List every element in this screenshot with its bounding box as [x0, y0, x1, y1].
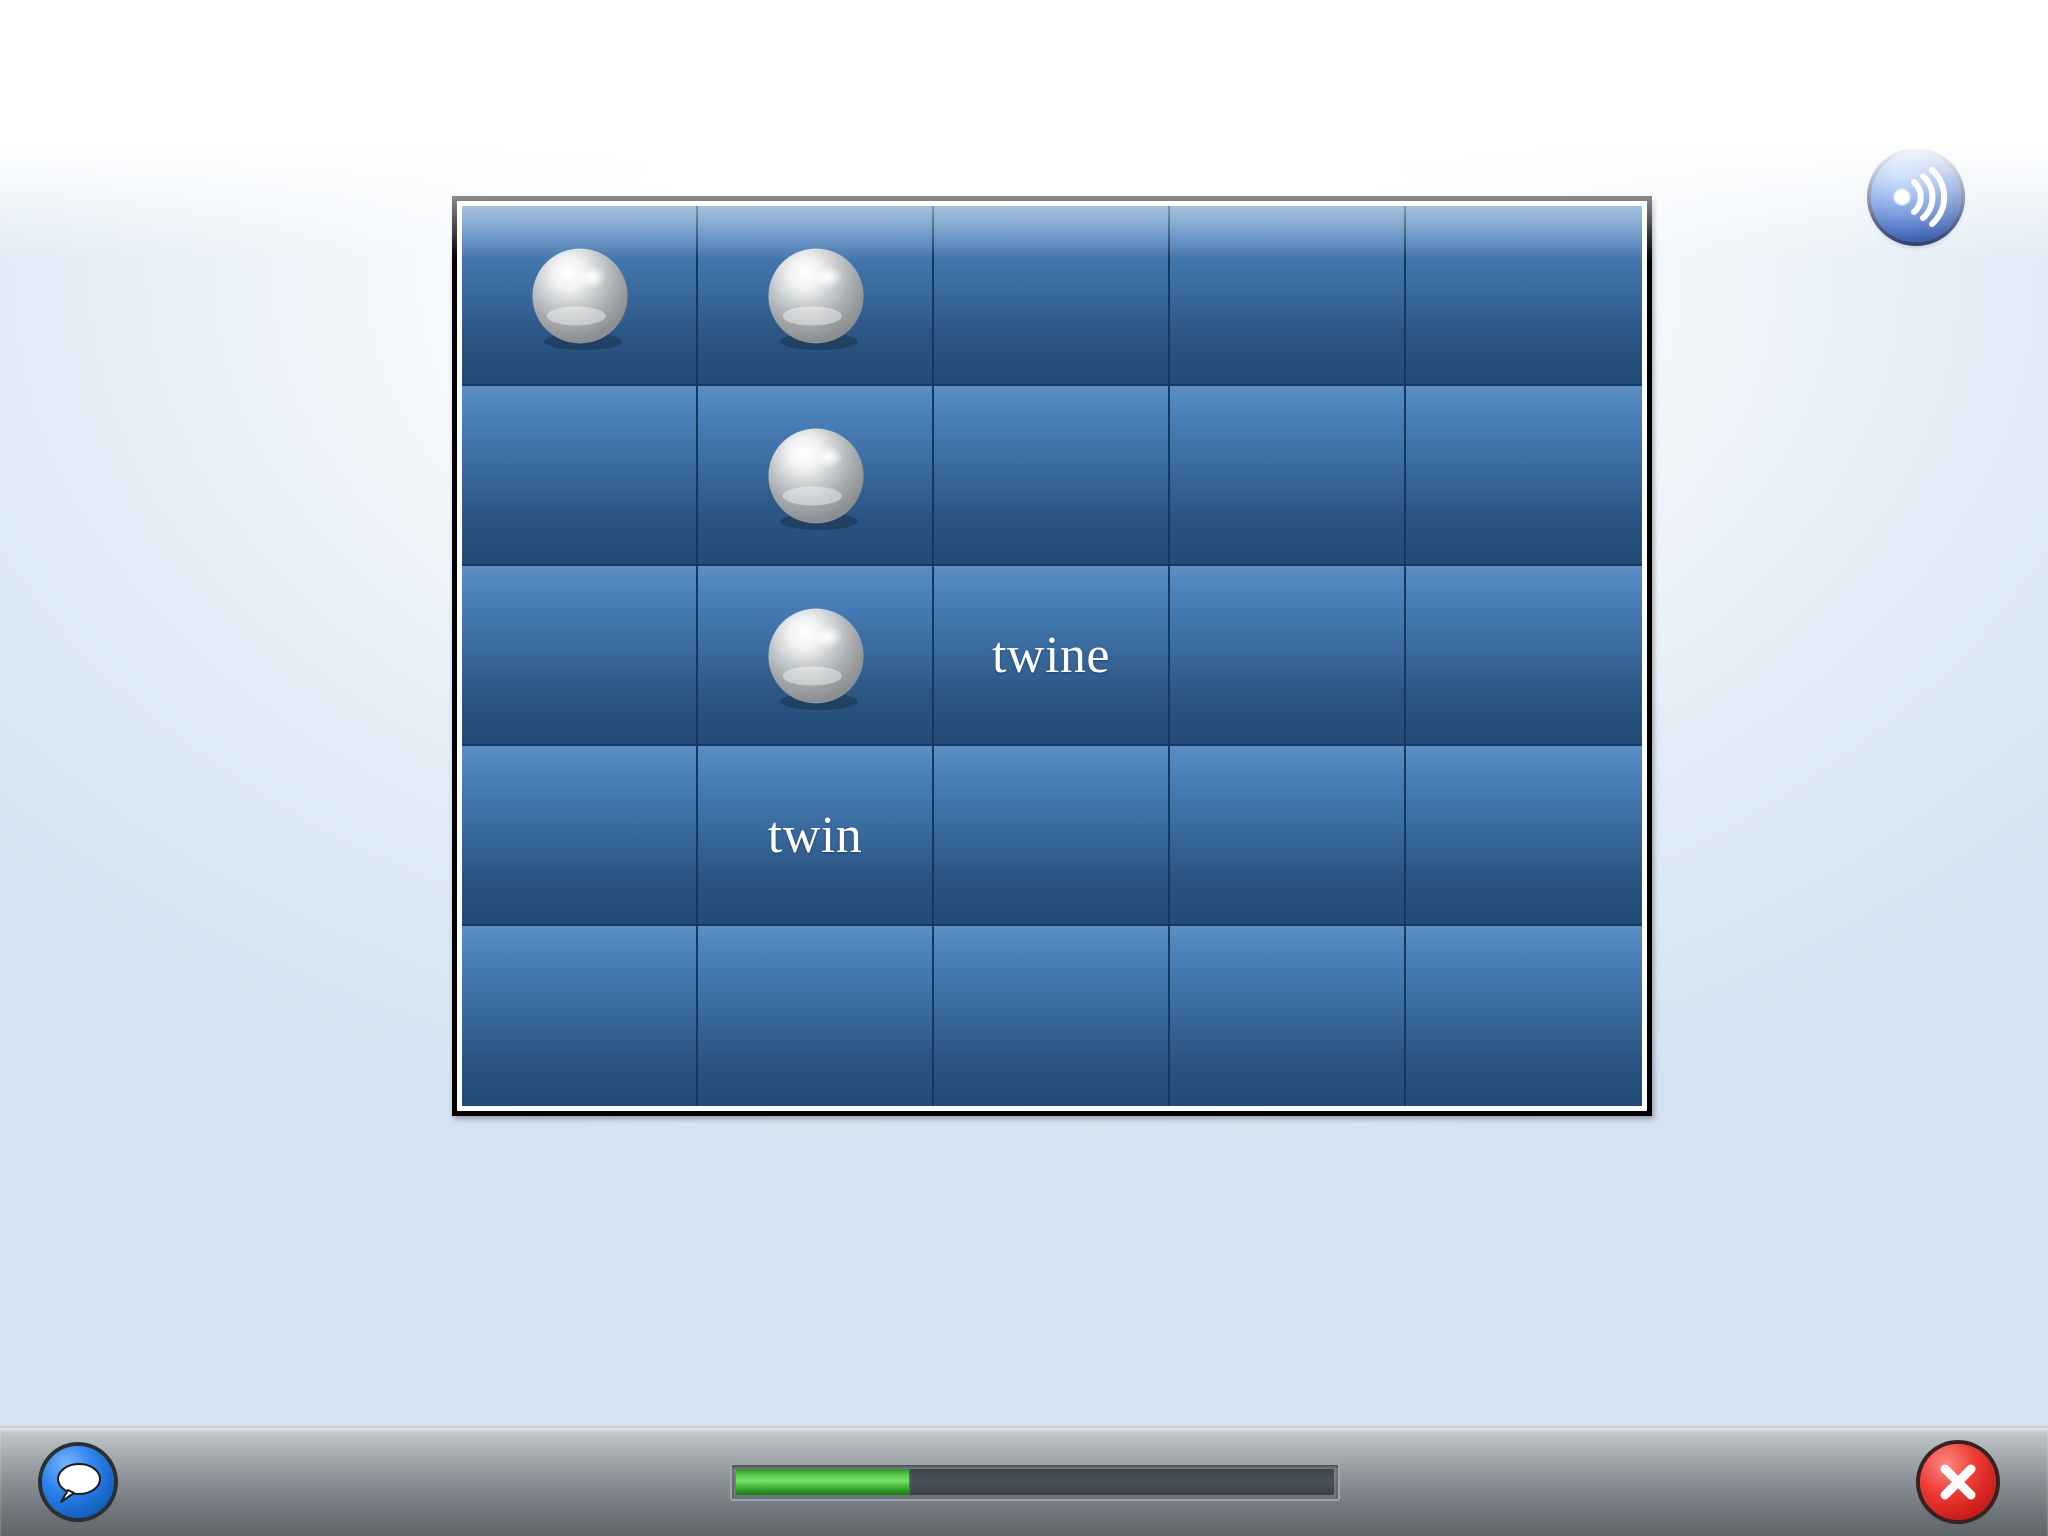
grid-cell-r1-c5[interactable] — [1406, 206, 1642, 386]
grid-cell-r3-c2[interactable] — [698, 566, 934, 746]
grid-cell-r4-c5[interactable] — [1406, 746, 1642, 926]
page-title: SHORT & LONG VOWELS — [150, 0, 549, 70]
grid-cell-r5-c5[interactable] — [1406, 926, 1642, 1106]
puzzle-board-inner-frame: twinetwin — [457, 201, 1647, 1111]
grid-cell-r2-c1[interactable] — [462, 386, 698, 566]
header-drop-shadow-b — [1230, 70, 2048, 77]
grid-cell-r5-c3[interactable] — [934, 926, 1170, 1106]
word-grid: twinetwin — [462, 206, 1642, 1106]
close-x-glyph — [1920, 1444, 1996, 1520]
grid-cell-r4-c1[interactable] — [462, 746, 698, 926]
grid-cell-r4-c3[interactable] — [934, 746, 1170, 926]
grid-cell-r2-c4[interactable] — [1170, 386, 1406, 566]
grid-cell-r1-c3[interactable] — [934, 206, 1170, 386]
cell-word: twine — [992, 626, 1110, 685]
lesson-number-badge: 2 — [0, 0, 150, 70]
grid-cell-r3-c5[interactable] — [1406, 566, 1642, 746]
bottom-toolbar — [0, 1426, 2048, 1536]
speaker-sound-icon[interactable] — [1871, 152, 1961, 242]
progress-bar[interactable] — [730, 1463, 1340, 1501]
grid-cell-r2-c3[interactable] — [934, 386, 1170, 566]
app-background: 2 SHORT & LONG VOWELS i twinetwin — [0, 0, 2048, 1536]
progress-fill — [736, 1469, 909, 1495]
grid-cell-r1-c4[interactable] — [1170, 206, 1406, 386]
lesson-number: 2 — [42, 14, 62, 56]
grid-cell-r5-c1[interactable] — [462, 926, 698, 1106]
header-bar: 2 SHORT & LONG VOWELS i — [0, 0, 2048, 70]
grid-cell-r1-c2[interactable] — [698, 206, 934, 386]
close-x-icon[interactable] — [1920, 1444, 1996, 1520]
grid-cell-r3-c4[interactable] — [1170, 566, 1406, 746]
grid-cell-r2-c5[interactable] — [1406, 386, 1642, 566]
puzzle-board: twinetwin — [452, 196, 1652, 1116]
info-icon[interactable]: i — [1970, 12, 2016, 58]
progress-track — [736, 1469, 1334, 1495]
grid-cell-r4-c4[interactable] — [1170, 746, 1406, 926]
speech-bubble-glyph — [42, 1446, 114, 1518]
grid-cell-r3-c1[interactable] — [462, 566, 698, 746]
speech-bubble-icon[interactable] — [42, 1446, 114, 1518]
grid-cell-r4-c2[interactable]: twin — [698, 746, 934, 926]
grid-cell-r5-c4[interactable] — [1170, 926, 1406, 1106]
grid-cell-r3-c3[interactable]: twine — [934, 566, 1170, 746]
grid-cell-r5-c2[interactable] — [698, 926, 934, 1106]
cell-word: twin — [768, 806, 862, 865]
speaker-waves-glyph — [1871, 152, 1961, 242]
grid-cell-r1-c1[interactable] — [462, 206, 698, 386]
grid-cell-r2-c2[interactable] — [698, 386, 934, 566]
